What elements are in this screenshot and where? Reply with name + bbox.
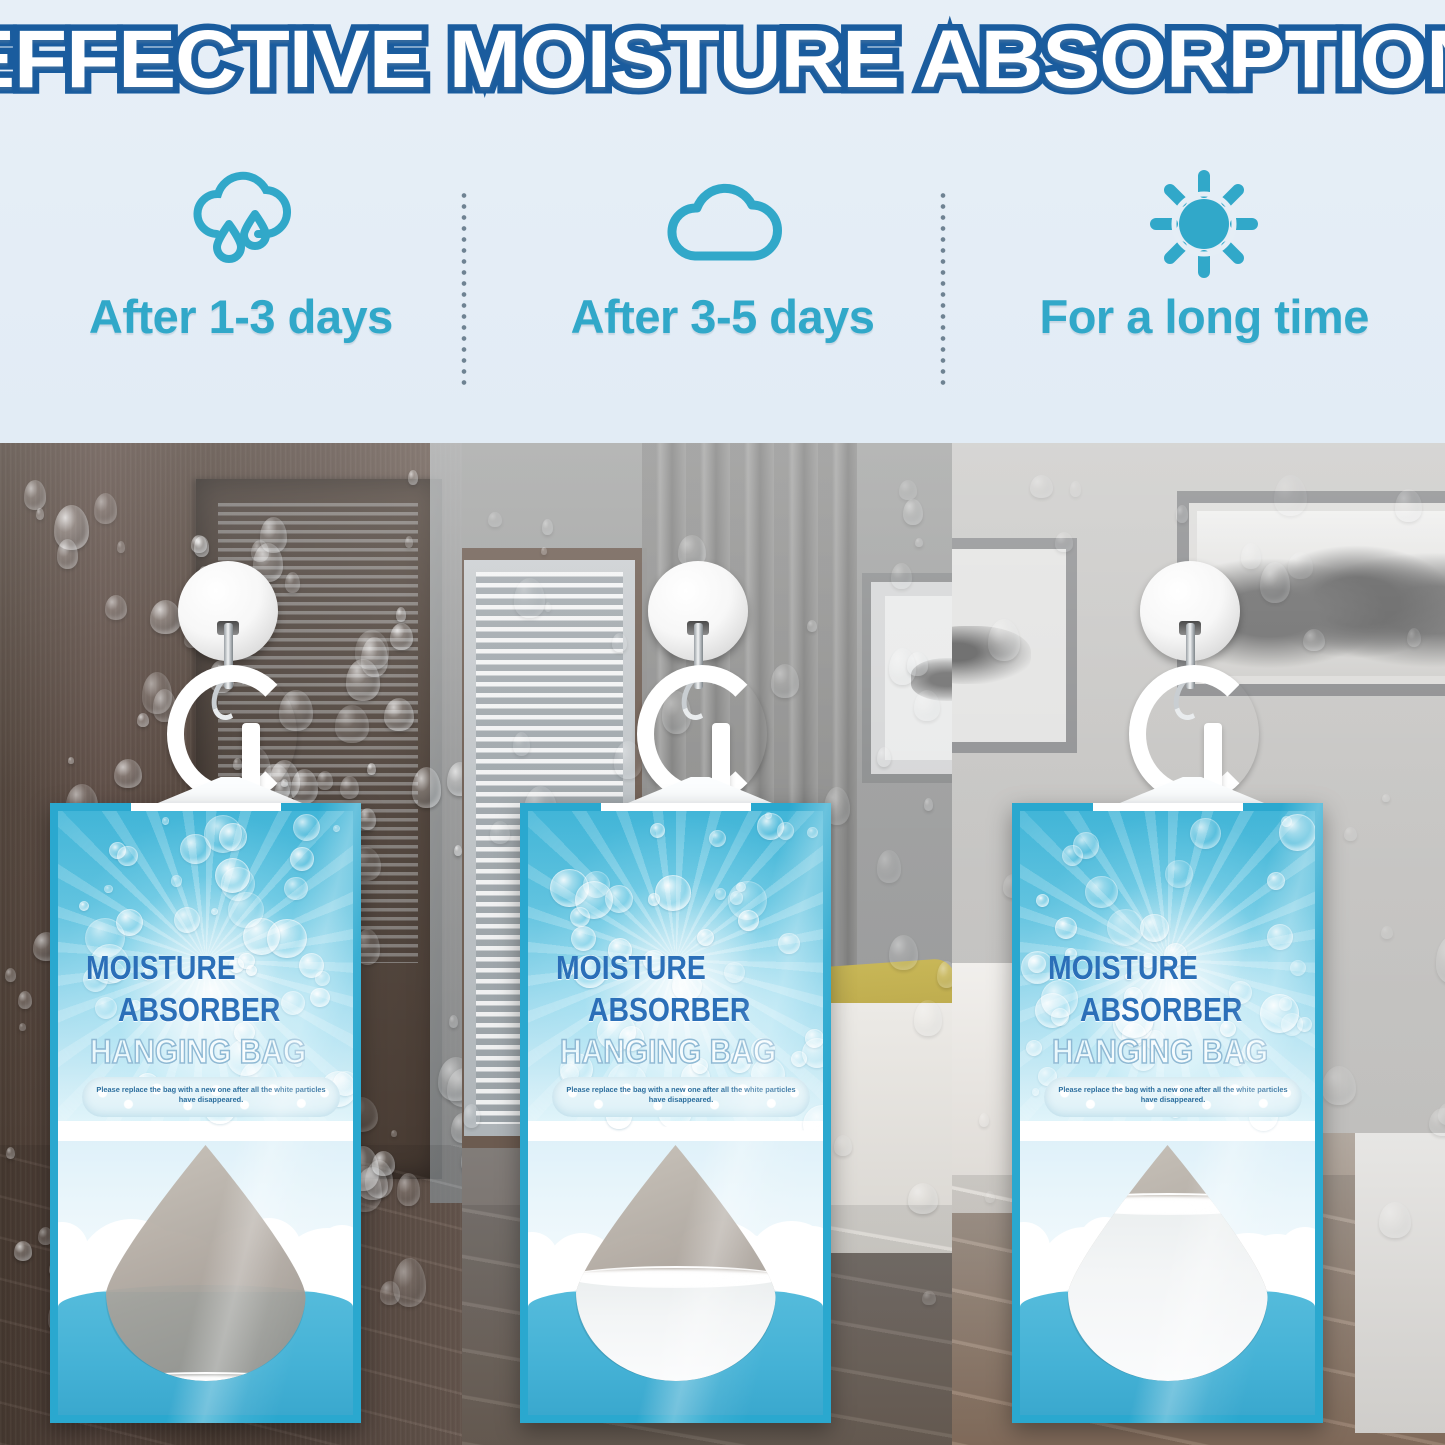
bag-brand-line-1: MOISTURE (86, 949, 236, 987)
bag-brand-line-1: MOISTURE (1048, 949, 1198, 987)
feature-stage-2: After 3-5 days (482, 165, 964, 400)
bag-brand-line-2: ABSORBER (588, 991, 750, 1029)
photo-strip: MOISTURE ABSORBER HANGING BAG Please rep… (0, 443, 1445, 1445)
feature-stage-3: For a long time (963, 165, 1445, 400)
bag-brand-line-3: HANGING BAG (560, 1033, 776, 1072)
feature-stage-1: After 1-3 days (0, 165, 482, 400)
bag-fine-print: Please replace the bag with a new one af… (1044, 1085, 1302, 1105)
bag-brand-line-3: HANGING BAG (90, 1033, 306, 1072)
feature-label-3: For a long time (1040, 289, 1369, 344)
moisture-absorber-bag-3: MOISTURE ABSORBER HANGING BAG Please rep… (1012, 803, 1323, 1423)
bag-brand-line-2: ABSORBER (1080, 991, 1242, 1029)
moisture-absorber-bag-1: MOISTURE ABSORBER HANGING BAG Please rep… (50, 803, 361, 1423)
page-title: EFFECTIVE MOISTURE ABSORPTION (0, 14, 1445, 106)
bag-fine-print: Please replace the bag with a new one af… (82, 1085, 340, 1105)
feature-label-2: After 3-5 days (571, 289, 875, 344)
bag-brand-line-1: MOISTURE (556, 949, 706, 987)
feature-label-1: After 1-3 days (89, 289, 393, 344)
sun-icon (1148, 165, 1260, 283)
scene-panel-2: MOISTURE ABSORBER HANGING BAG Please rep… (462, 443, 952, 1445)
cloud-icon (659, 165, 787, 283)
header-banner: EFFECTIVE MOISTURE ABSORPTION After 1-3 … (0, 0, 1445, 443)
scene-panel-1: MOISTURE ABSORBER HANGING BAG Please rep… (0, 443, 462, 1445)
bag-fine-print: Please replace the bag with a new one af… (552, 1085, 810, 1105)
scene-panel-3: MOISTURE ABSORBER HANGING BAG Please rep… (952, 443, 1445, 1445)
divider-dotted-2 (940, 190, 946, 388)
divider-dotted-1 (461, 190, 467, 388)
rain-cloud-icon (183, 165, 299, 283)
product-marketing-image: EFFECTIVE MOISTURE ABSORPTION After 1-3 … (0, 0, 1445, 1445)
moisture-absorber-bag-2: MOISTURE ABSORBER HANGING BAG Please rep… (520, 803, 831, 1423)
feature-row: After 1-3 days After 3-5 days (0, 165, 1445, 400)
bag-brand-line-2: ABSORBER (118, 991, 280, 1029)
bag-brand-line-3: HANGING BAG (1052, 1033, 1268, 1072)
